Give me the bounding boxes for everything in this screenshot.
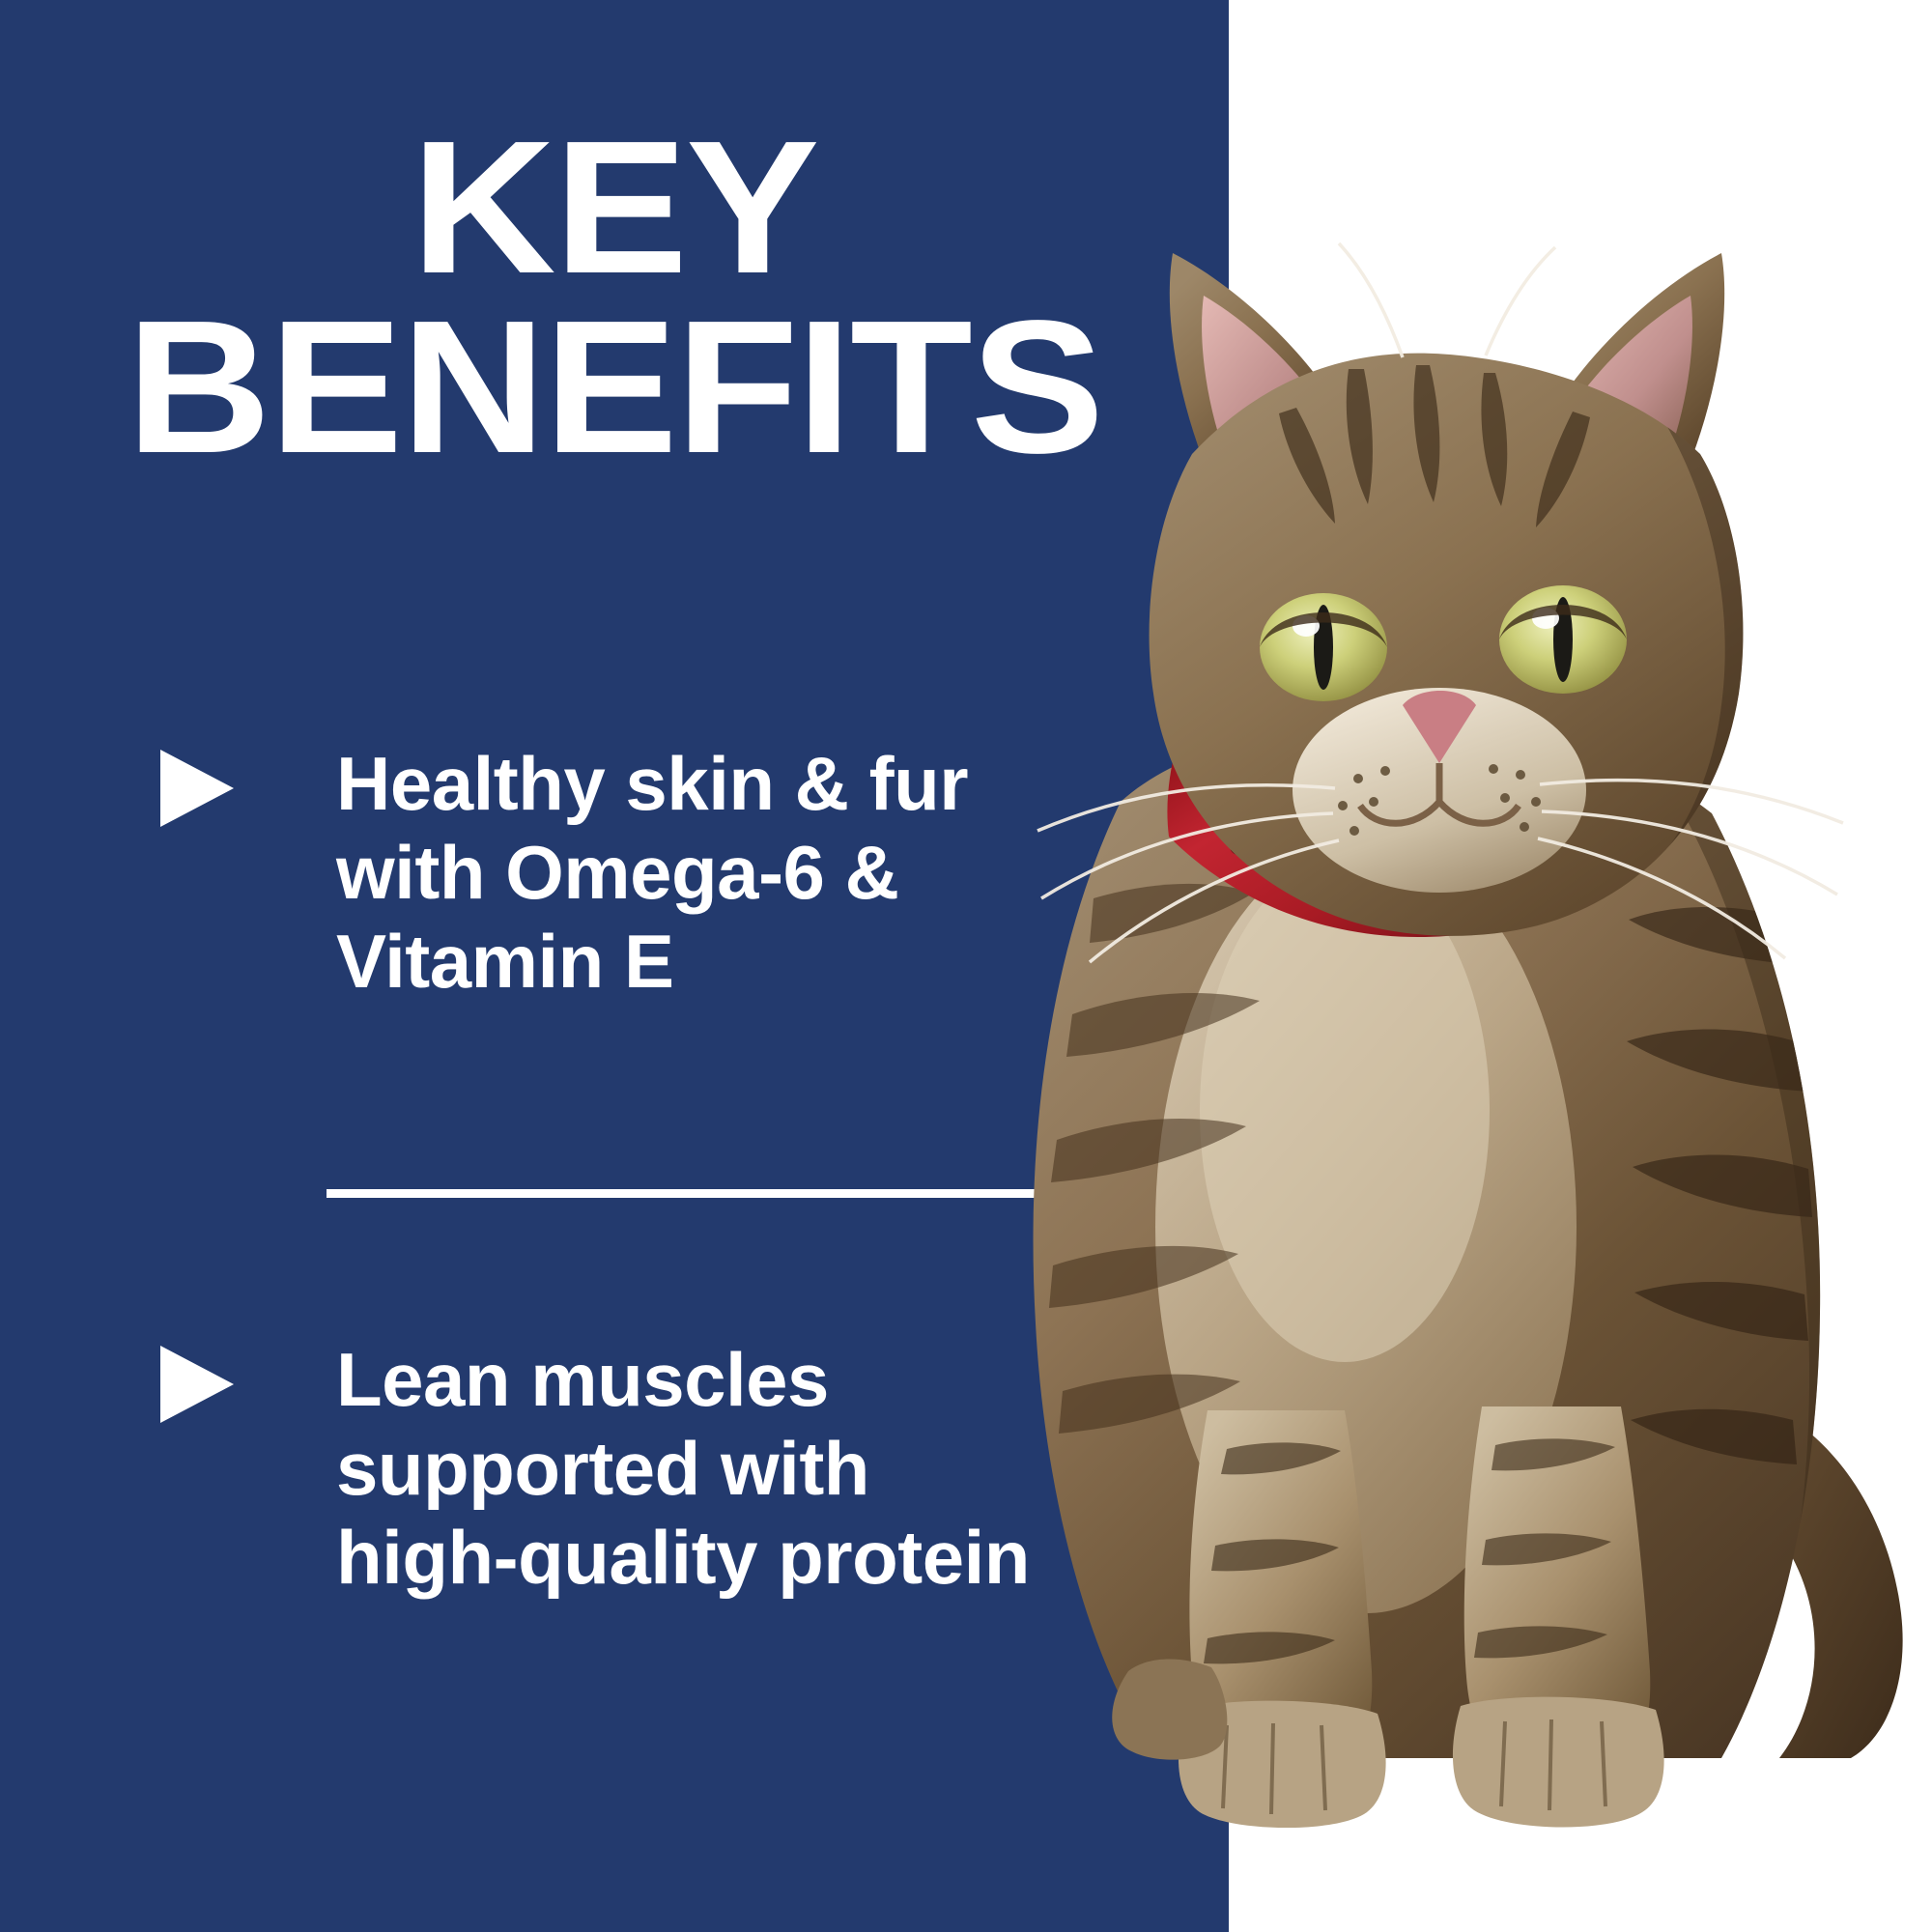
cat-paw-right: [1453, 1697, 1664, 1828]
triangle-right-icon: [160, 750, 234, 827]
product-photo-area: [1229, 0, 1932, 1932]
triangle-right-icon: [160, 1346, 234, 1423]
cat-eye-right: [1499, 585, 1627, 694]
cat-rear-paw: [1112, 1659, 1227, 1759]
cat-eye-left: [1260, 593, 1387, 701]
key-benefits-banner: KEY BENEFITS Healthy skin & fur with Ome…: [0, 0, 1932, 1932]
cat-photo: [949, 164, 1924, 1855]
